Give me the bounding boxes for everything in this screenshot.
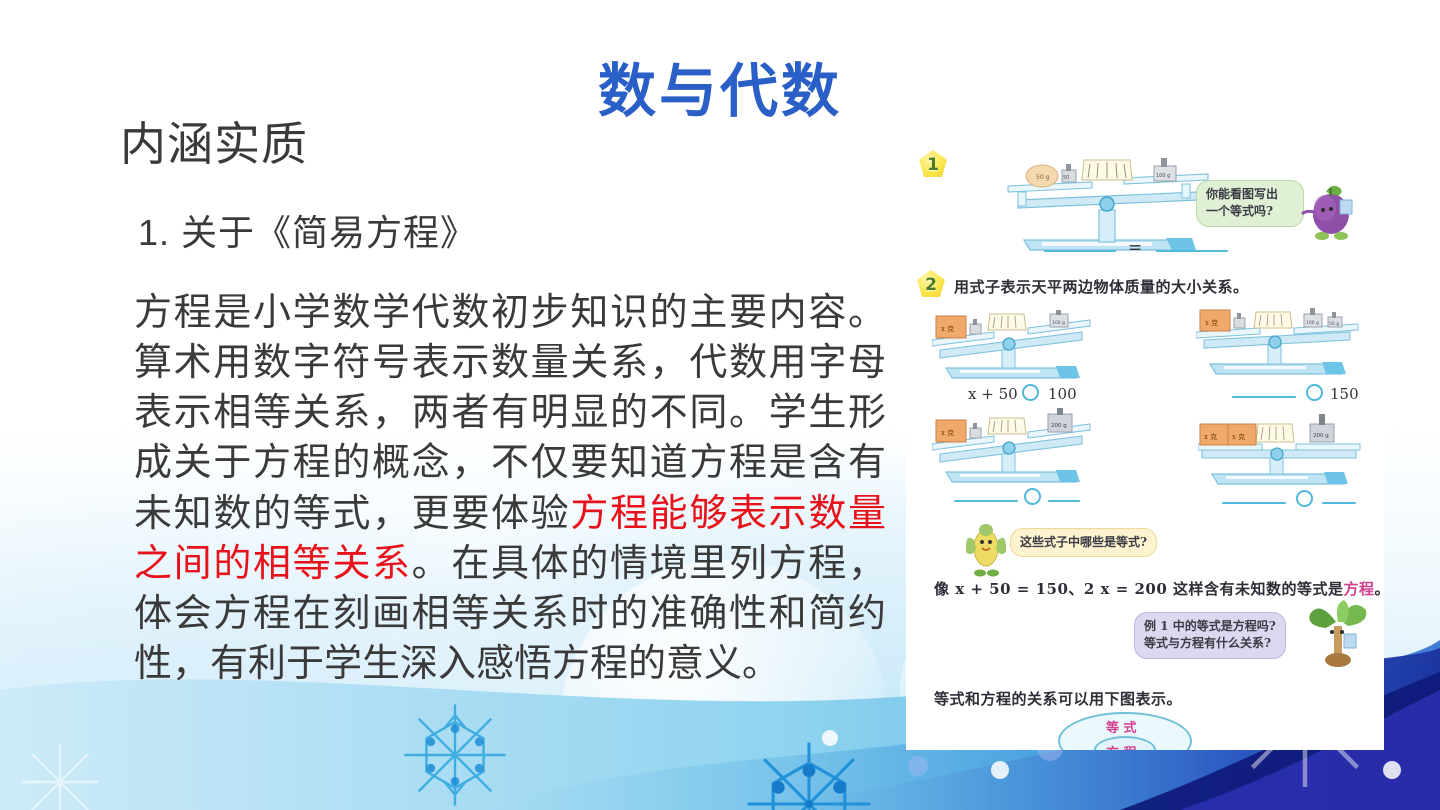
content-column: 内涵实质 1. 关于《简易方程》 方程是小学数学代数初步知识的主要内容。算术用数… bbox=[120, 118, 880, 171]
venn-inner-label: 方 程 bbox=[1106, 742, 1137, 750]
definition-suffix: 。 bbox=[1375, 580, 1384, 598]
svg-text:x 克: x 克 bbox=[1204, 433, 1217, 441]
badge-number-2: 2 bbox=[916, 270, 946, 300]
svg-text:x 克: x 克 bbox=[941, 325, 954, 333]
definition-prefix: 像 x + 50 = 150、2 x = 200 这样含有未知数的等式是 bbox=[934, 580, 1344, 598]
operator-circle[interactable] bbox=[1022, 384, 1039, 401]
operator-circle[interactable] bbox=[1024, 488, 1041, 505]
answer-blank[interactable] bbox=[1044, 250, 1116, 252]
svg-text:50: 50 bbox=[1063, 175, 1069, 181]
answer-blank[interactable] bbox=[1048, 500, 1080, 502]
svg-text:50 g: 50 g bbox=[1036, 174, 1050, 181]
sub-heading: 1. 关于《简易方程》 bbox=[138, 210, 558, 256]
slide-canvas: 数与代数 内涵实质 1. 关于《简易方程》 方程是小学数学代数初步知识的主要内容… bbox=[0, 0, 1440, 810]
svg-text:100 g: 100 g bbox=[1052, 320, 1065, 326]
speech-bubble-plant: 例 1 中的等式是方程吗? 等式与方程有什么关系? bbox=[1134, 612, 1286, 659]
eggplant-character-icon bbox=[1298, 170, 1360, 247]
corn-character-icon bbox=[962, 522, 1010, 583]
section-heading: 内涵实质 bbox=[120, 118, 880, 171]
badge-number-1: 1 bbox=[918, 150, 948, 180]
expression-2a: x + 50 bbox=[968, 385, 1018, 403]
value-2b: 150 bbox=[1330, 385, 1359, 403]
balance-scale-2a: x 克 100 g bbox=[932, 310, 1092, 387]
balance-scale-2c: x 克 200 g bbox=[932, 408, 1092, 493]
svg-text:x 克: x 克 bbox=[1205, 319, 1218, 327]
answer-blank[interactable] bbox=[1232, 396, 1296, 398]
operator-circle[interactable] bbox=[1306, 384, 1323, 401]
value-2a: 100 bbox=[1048, 385, 1077, 403]
textbook-figure: 1 bbox=[906, 130, 1384, 750]
svg-text:100 g: 100 g bbox=[1306, 320, 1319, 326]
answer-blank[interactable] bbox=[1156, 250, 1228, 252]
body-paragraph: 方程是小学数学代数初步知识的主要内容。算术用数字符号表示数量关系，代数用字母表示… bbox=[134, 288, 886, 689]
answer-blank[interactable] bbox=[954, 500, 1018, 502]
page-title: 数与代数 bbox=[0, 44, 1440, 128]
svg-text:x 克: x 克 bbox=[941, 429, 954, 437]
equals-sign: = bbox=[1128, 238, 1142, 258]
svg-text:x 克: x 克 bbox=[1232, 433, 1245, 441]
item-2-instruction: 用式子表示天平两边物体质量的大小关系。 bbox=[954, 276, 1249, 297]
answer-blank[interactable] bbox=[1322, 502, 1356, 504]
operator-circle[interactable] bbox=[1296, 490, 1313, 507]
speech-bubble-eggplant: 你能看图写出 一个等式吗? bbox=[1196, 180, 1304, 227]
balance-scale-1: 50 g 50 100 g bbox=[1006, 152, 1211, 262]
svg-text:200 g: 200 g bbox=[1313, 433, 1329, 439]
speech-bubble-corn: 这些式子中哪些是等式? bbox=[1010, 528, 1157, 557]
balance-scale-2b: x 克 100 g 50 g bbox=[1196, 306, 1361, 383]
balance-scale-2d: x 克 x 克 200 g bbox=[1198, 412, 1363, 497]
svg-text:50 g: 50 g bbox=[1329, 321, 1339, 327]
relation-line: 等式和方程的关系可以用下图表示。 bbox=[934, 688, 1182, 709]
answer-blank[interactable] bbox=[1222, 502, 1286, 504]
svg-text:100 g: 100 g bbox=[1156, 173, 1170, 179]
plant-character-icon bbox=[1306, 592, 1370, 681]
svg-text:200 g: 200 g bbox=[1051, 423, 1067, 429]
venn-outer-label: 等 式 bbox=[1106, 717, 1137, 736]
